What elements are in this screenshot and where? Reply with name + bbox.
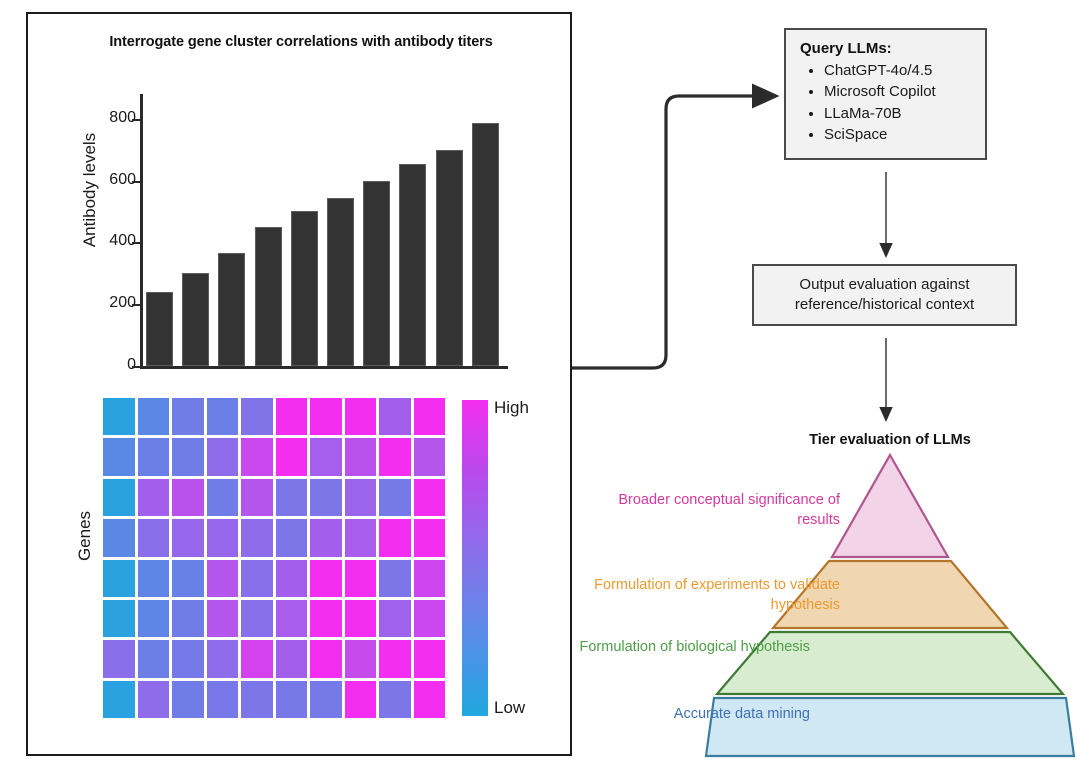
- heatmap-cell: [103, 681, 135, 718]
- heatmap-cell: [207, 438, 239, 475]
- heatmap-cell: [276, 398, 308, 435]
- heatmap-cell: [103, 640, 135, 677]
- heatmap-cell: [103, 600, 135, 637]
- heatmap-cell: [414, 479, 446, 516]
- tier-label-accurate-data-mining: Accurate data mining: [545, 705, 810, 725]
- heatmap-colorbar: [462, 400, 488, 716]
- bar-chart: Antibody levels 0200400600800: [58, 88, 528, 380]
- heatmap-cell: [241, 519, 273, 556]
- heatmap-cell: [345, 640, 377, 677]
- heatmap-cell: [310, 681, 342, 718]
- heatmap-cell: [276, 519, 308, 556]
- bar-chart-bar: [399, 164, 426, 366]
- colorbar-low-label: Low: [494, 698, 525, 718]
- heatmap-cell: [241, 398, 273, 435]
- bar-chart-y-tick-label: 800: [58, 109, 136, 127]
- heatmap-cell: [172, 398, 204, 435]
- heatmap-cell: [241, 640, 273, 677]
- heatmap-cell: [138, 640, 170, 677]
- bar-chart-y-tick-mark: [132, 242, 141, 244]
- query-llms-list: ChatGPT-4o/4.5Microsoft CopilotLLaMa-70B…: [802, 60, 936, 146]
- heatmap-cell: [345, 398, 377, 435]
- query-llms-heading: Query LLMs:: [800, 40, 892, 57]
- heatmap-cell: [276, 438, 308, 475]
- heatmap-cell: [345, 560, 377, 597]
- heatmap-cell: [379, 560, 411, 597]
- heatmap-cell: [103, 519, 135, 556]
- heatmap-cell: [345, 438, 377, 475]
- heatmap-cell: [276, 640, 308, 677]
- bar-chart-bar: [472, 123, 499, 366]
- heatmap-cell: [345, 681, 377, 718]
- heatmap-cell: [276, 681, 308, 718]
- heatmap-grid: [103, 398, 445, 718]
- bar-chart-y-tick-label: 600: [58, 171, 136, 189]
- heatmap-cell: [414, 600, 446, 637]
- heatmap-cell: [103, 560, 135, 597]
- heatmap-cell: [379, 681, 411, 718]
- heatmap-cell: [310, 398, 342, 435]
- output-evaluation-line2: reference/historical context: [795, 296, 974, 313]
- bar-chart-x-axis: [140, 366, 508, 369]
- bar-chart-bar: [291, 211, 318, 366]
- heatmap-cell: [310, 640, 342, 677]
- bar-chart-y-tick-label: 400: [58, 232, 136, 250]
- heatmap-cell: [414, 519, 446, 556]
- heatmap-cell: [103, 438, 135, 475]
- heatmap-cell: [172, 560, 204, 597]
- heatmap-cell: [172, 600, 204, 637]
- query-llms-list-item: Microsoft Copilot: [824, 81, 936, 102]
- heatmap-cell: [241, 479, 273, 516]
- heatmap-cell: [241, 438, 273, 475]
- bar-chart-bars: [143, 94, 508, 366]
- heatmap-cell: [310, 438, 342, 475]
- bar-chart-bar: [218, 253, 245, 366]
- heatmap-cell: [345, 519, 377, 556]
- heatmap-cell: [207, 600, 239, 637]
- page-title: Interrogate gene cluster correlations wi…: [28, 34, 574, 50]
- heatmap-cell: [276, 560, 308, 597]
- heatmap-cell: [138, 479, 170, 516]
- bar-chart-bar: [363, 181, 390, 366]
- heatmap-cell: [207, 479, 239, 516]
- heatmap-cell: [414, 398, 446, 435]
- heatmap-y-axis-label: Genes: [75, 471, 95, 601]
- bar-chart-y-tick-mark: [132, 181, 141, 183]
- heatmap-cell: [172, 640, 204, 677]
- bar-chart-bar: [182, 273, 209, 366]
- heatmap: Genes High Low: [58, 398, 528, 728]
- heatmap-cell: [414, 640, 446, 677]
- heatmap-cell: [138, 519, 170, 556]
- bar-chart-bar: [146, 292, 173, 366]
- tier-label-broader-conceptual: Broader conceptual significance of resul…: [600, 491, 840, 530]
- heatmap-cell: [379, 640, 411, 677]
- heatmap-cell: [276, 479, 308, 516]
- heatmap-cell: [379, 479, 411, 516]
- heatmap-cell: [172, 681, 204, 718]
- heatmap-cell: [138, 681, 170, 718]
- heatmap-cell: [310, 479, 342, 516]
- heatmap-cell: [172, 438, 204, 475]
- heatmap-cell: [138, 560, 170, 597]
- heatmap-cell: [172, 519, 204, 556]
- heatmap-cell: [241, 600, 273, 637]
- query-llms-box: Query LLMs: ChatGPT-4o/4.5Microsoft Copi…: [784, 28, 987, 160]
- bar-chart-bar: [436, 150, 463, 366]
- heatmap-cell: [310, 600, 342, 637]
- heatmap-cell: [207, 640, 239, 677]
- output-evaluation-line1: Output evaluation against: [799, 276, 969, 293]
- heatmap-cell: [103, 398, 135, 435]
- bar-chart-y-tick-mark: [132, 119, 141, 121]
- heatmap-cell: [138, 600, 170, 637]
- heatmap-cell: [345, 600, 377, 637]
- heatmap-cell: [310, 560, 342, 597]
- heatmap-cell: [414, 438, 446, 475]
- heatmap-cell: [379, 398, 411, 435]
- heatmap-cell: [207, 519, 239, 556]
- bar-chart-y-tick-mark: [132, 366, 141, 368]
- heatmap-cell: [172, 479, 204, 516]
- tier-shape-broader-conceptual: [832, 455, 948, 557]
- heatmap-cell: [241, 681, 273, 718]
- query-llms-list-item: LLaMa-70B: [824, 103, 936, 124]
- bar-chart-y-tick-label: 200: [58, 294, 136, 312]
- colorbar-high-label: High: [494, 398, 529, 418]
- heatmap-cell: [241, 560, 273, 597]
- heatmap-cell: [103, 479, 135, 516]
- output-evaluation-text: Output evaluation against reference/hist…: [795, 275, 974, 316]
- heatmap-cell: [207, 681, 239, 718]
- heatmap-cell: [414, 681, 446, 718]
- tier-label-formulation-hypothesis: Formulation of biological hypothesis: [560, 638, 810, 658]
- tier-label-formulation-experiments: Formulation of experiments to validate h…: [560, 576, 840, 615]
- bar-chart-y-tick-mark: [132, 304, 141, 306]
- heatmap-cell: [138, 398, 170, 435]
- figure-canvas: Interrogate gene cluster correlations wi…: [0, 0, 1080, 771]
- tier-evaluation-title: Tier evaluation of LLMs: [790, 432, 990, 448]
- bar-chart-bar: [327, 198, 354, 366]
- heatmap-cell: [345, 479, 377, 516]
- heatmap-cell: [207, 560, 239, 597]
- query-llms-list-item: SciSpace: [824, 124, 936, 145]
- heatmap-cell: [276, 600, 308, 637]
- heatmap-cell: [379, 438, 411, 475]
- heatmap-cell: [138, 438, 170, 475]
- heatmap-cell: [207, 398, 239, 435]
- heatmap-cell: [310, 519, 342, 556]
- heatmap-cell: [379, 600, 411, 637]
- output-evaluation-box: Output evaluation against reference/hist…: [752, 264, 1017, 326]
- heatmap-cell: [414, 560, 446, 597]
- connector-panel-to-llm: [572, 96, 776, 368]
- bar-chart-y-tick-label: 0: [58, 356, 136, 374]
- bar-chart-bar: [255, 227, 282, 366]
- heatmap-cell: [379, 519, 411, 556]
- query-llms-list-item: ChatGPT-4o/4.5: [824, 60, 936, 81]
